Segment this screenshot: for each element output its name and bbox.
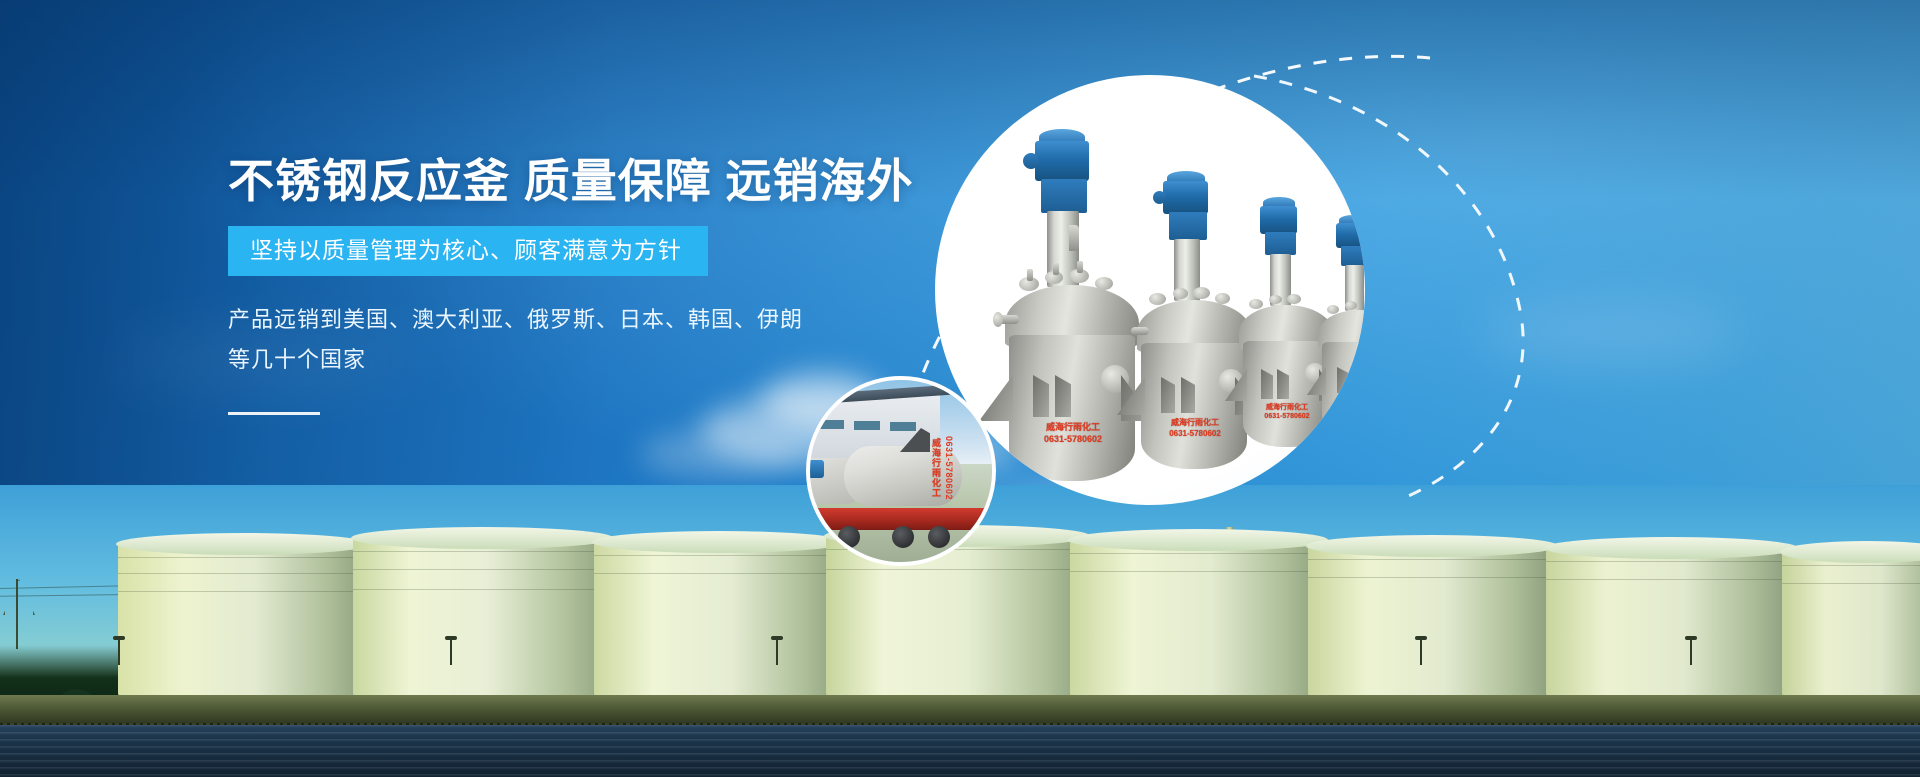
watermark-phone: 0631-5780602: [1044, 434, 1102, 444]
truck-watermark-company: 威海行雨化工: [930, 438, 941, 498]
vessel-motor: [806, 460, 824, 478]
storage-tank: [594, 541, 844, 697]
reactor-watermark: 威海行雨化工 0631-5780602: [1253, 403, 1321, 421]
banner-subtitle-bar: 坚持以质量管理为核心、顾客满意为方针: [228, 226, 708, 276]
truck-wheel: [892, 526, 914, 548]
hero-banner: 威海行雨化工 0631-5780602 威海行雨化工: [0, 0, 1920, 777]
watermark-company: 威海行雨化工: [1341, 396, 1365, 402]
storage-tank: [118, 543, 368, 697]
reactor-vessel: 威海行雨化工 0631-5780602: [1315, 215, 1365, 437]
storage-tank: [1070, 539, 1326, 697]
watermark-company: 威海行雨化工: [1266, 404, 1308, 411]
storage-tank: [1546, 547, 1796, 697]
storage-tank: [353, 537, 611, 697]
truck-wheel: [838, 526, 860, 548]
building-window: [890, 422, 916, 431]
truck-wheel: [928, 526, 950, 548]
storage-tank: [1782, 551, 1920, 697]
building-window: [854, 421, 880, 430]
decorative-divider: [228, 412, 320, 415]
truck-watermark-phone: 0631-5780602: [944, 436, 954, 500]
water-shimmer: [0, 725, 1920, 777]
body-line-1: 产品远销到美国、澳大利亚、俄罗斯、日本、韩国、伊朗: [228, 300, 988, 340]
watermark-company: 威海行雨化工: [1046, 422, 1100, 432]
reactor-vessel: 威海行雨化工 0631-5780602: [997, 129, 1149, 481]
reactor-watermark: 威海行雨化工 0631-5780602: [1027, 421, 1119, 445]
reactor-watermark: 威海行雨化工 0631-5780602: [1155, 417, 1235, 439]
watermark-phone: 0631-5780602: [1169, 429, 1221, 438]
product-showcase-circle[interactable]: 威海行雨化工 0631-5780602 威海行雨化工: [935, 75, 1365, 505]
watermark-phone: 0631-5780602: [1340, 404, 1365, 410]
building-window: [818, 420, 844, 429]
body-line-2: 等几十个国家: [228, 340, 988, 380]
transmission-pylon: [16, 579, 18, 649]
storage-tank: [1308, 545, 1556, 697]
watermark-phone: 0631-5780602: [1264, 413, 1309, 420]
quay-wall: [0, 695, 1920, 725]
reactor-watermark: 威海行雨化工 0631-5780602: [1329, 395, 1365, 411]
banner-copy: 不锈钢反应釜 质量保障 远销海外 坚持以质量管理为核心、顾客满意为方针 产品远销…: [228, 158, 988, 415]
cloud-shape: [640, 430, 800, 478]
banner-headline: 不锈钢反应釜 质量保障 远销海外: [228, 158, 988, 204]
banner-body-text: 产品远销到美国、澳大利亚、俄罗斯、日本、韩国、伊朗 等几十个国家: [228, 300, 988, 380]
watermark-company: 威海行雨化工: [1171, 418, 1219, 427]
